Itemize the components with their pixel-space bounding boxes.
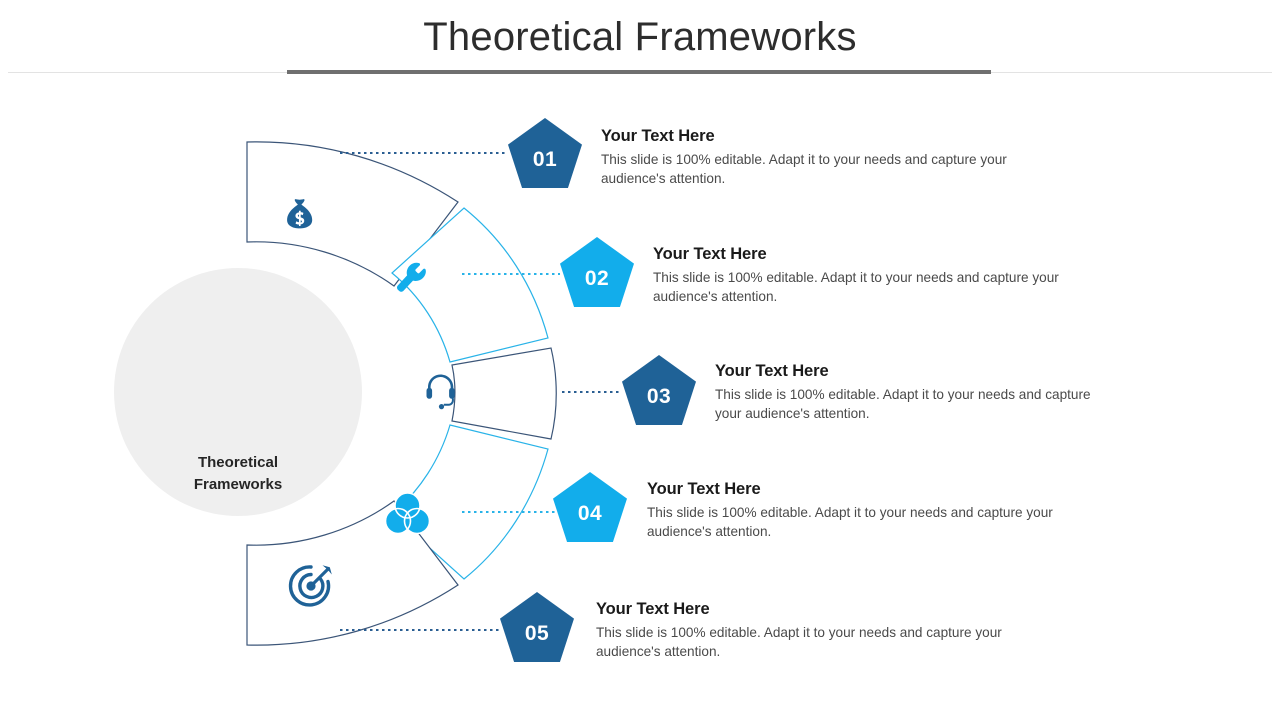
text-block-04: Your Text Here This slide is 100% editab… <box>647 480 1107 542</box>
number-badge-05-label: 05 <box>525 622 549 662</box>
number-badge-04-label: 04 <box>578 502 602 542</box>
item-heading-04: Your Text Here <box>647 480 1107 499</box>
text-block-01: Your Text Here This slide is 100% editab… <box>601 127 1061 189</box>
number-badge-01-label: 01 <box>533 148 557 188</box>
item-heading-05: Your Text Here <box>596 600 1056 619</box>
text-block-05: Your Text Here This slide is 100% editab… <box>596 600 1056 662</box>
item-body-01: This slide is 100% editable. Adapt it to… <box>601 150 1051 189</box>
headset-icon <box>427 374 455 409</box>
number-badge-03-label: 03 <box>647 385 671 425</box>
item-body-05: This slide is 100% editable. Adapt it to… <box>596 623 1043 662</box>
slide-canvas: Theoretical Frameworks <box>0 0 1280 720</box>
item-heading-02: Your Text Here <box>653 245 1113 264</box>
text-block-02: Your Text Here This slide is 100% editab… <box>653 245 1113 307</box>
item-body-04: This slide is 100% editable. Adapt it to… <box>647 503 1094 542</box>
center-circle <box>114 268 362 516</box>
header-divider-accent <box>287 70 991 74</box>
slide-header: Theoretical Frameworks <box>0 14 1280 60</box>
arc-segment-03-shape <box>452 348 556 439</box>
item-heading-01: Your Text Here <box>601 127 1061 146</box>
item-heading-03: Your Text Here <box>715 362 1115 381</box>
arc-segment-03[interactable] <box>452 348 556 439</box>
number-badge-02-label: 02 <box>585 267 609 307</box>
text-block-03: Your Text Here This slide is 100% editab… <box>715 362 1115 424</box>
item-body-02: This slide is 100% editable. Adapt it to… <box>653 268 1103 307</box>
item-body-03: This slide is 100% editable. Adapt it to… <box>715 385 1105 424</box>
page-title: Theoretical Frameworks <box>0 14 1280 60</box>
